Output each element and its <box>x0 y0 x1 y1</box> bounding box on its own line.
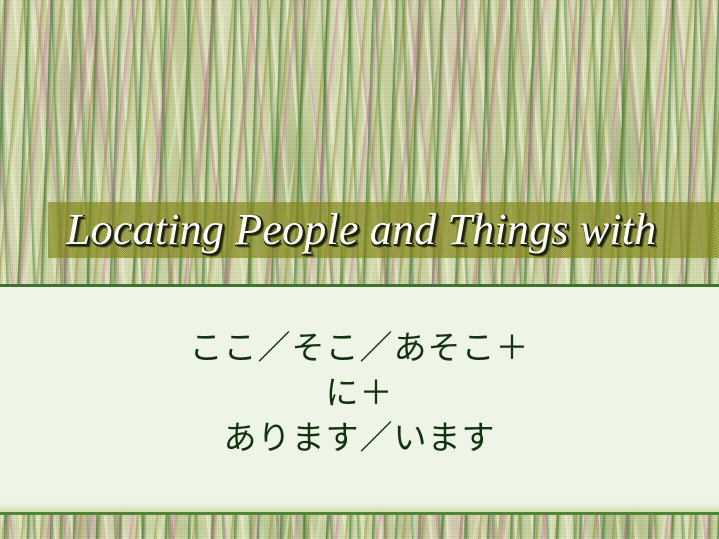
content-area-fade <box>0 503 719 512</box>
body-line-2: に＋ <box>0 370 719 415</box>
title-band: Locating People and Things with <box>48 202 719 258</box>
page-title: Locating People and Things with <box>66 203 656 257</box>
body-text-block: ここ／そこ／あそこ＋ に＋ あります／います <box>0 325 719 460</box>
body-line-3: あります／います <box>0 415 719 460</box>
grass-texture-bottom <box>0 515 719 539</box>
presentation-slide: Locating People and Things with ここ／そこ／あそ… <box>0 0 719 539</box>
body-line-1: ここ／そこ／あそこ＋ <box>0 325 719 370</box>
